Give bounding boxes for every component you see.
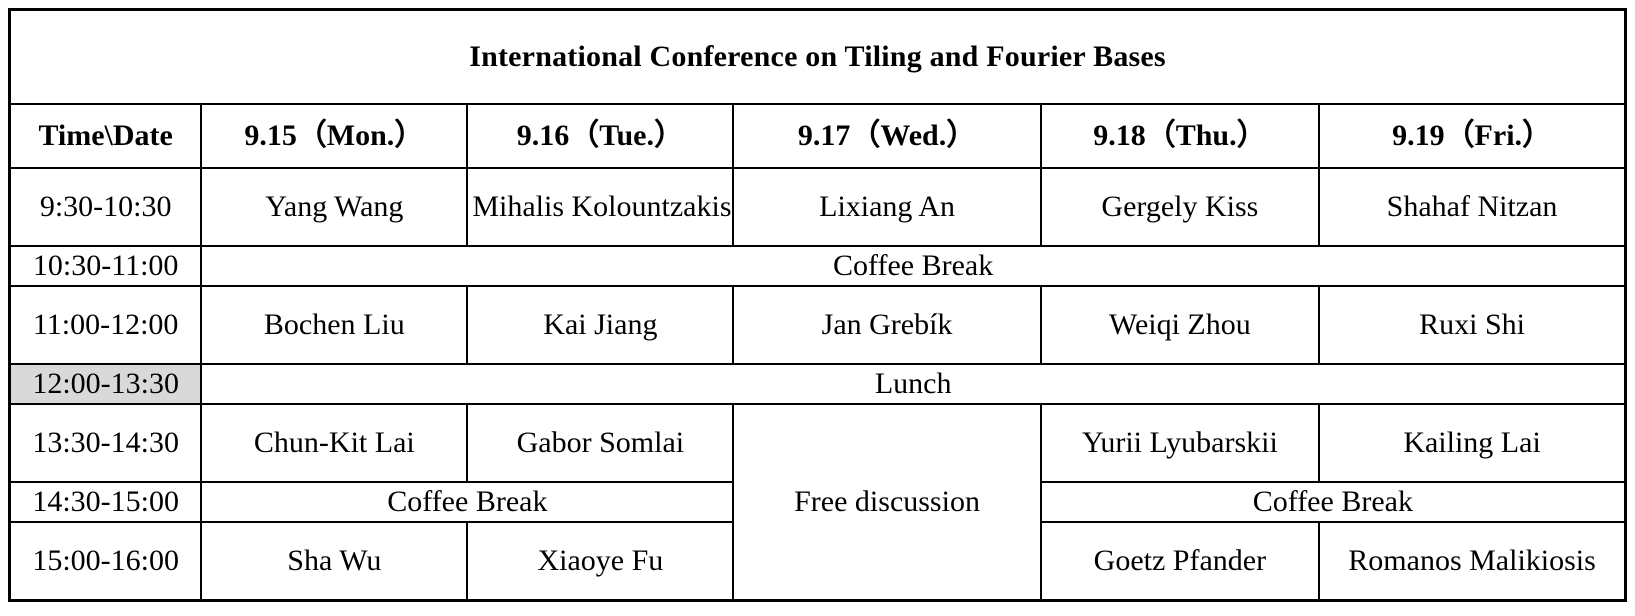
header-day-monday: 9.15（Mon.） — [201, 104, 467, 168]
time-slot-1100-1200: 11:00-12:00 — [10, 286, 202, 364]
talk-wed-1100: Jan Grebík — [733, 286, 1040, 364]
talk-fri-1500: Romanos Malikiosis — [1319, 522, 1625, 601]
talk-fri-0930: Shahaf Nitzan — [1319, 168, 1625, 246]
table-row: 12:00-13:30 Lunch — [10, 364, 1626, 404]
talk-mon-0930: Yang Wang — [201, 168, 467, 246]
time-slot-1200-1330: 12:00-13:30 — [10, 364, 202, 404]
free-discussion-wed: Free discussion — [733, 404, 1040, 601]
table-row: 9:30-10:30 Yang Wang Mihalis Kolountzaki… — [10, 168, 1626, 246]
time-slot-1030-1100: 10:30-11:00 — [10, 246, 202, 286]
schedule-page: International Conference on Tiling and F… — [0, 0, 1635, 616]
coffee-break-afternoon-left: Coffee Break — [201, 482, 733, 522]
talk-thu-0930: Gergely Kiss — [1041, 168, 1319, 246]
table-row: 13:30-14:30 Chun-Kit Lai Gabor Somlai Fr… — [10, 404, 1626, 482]
talk-thu-1100: Weiqi Zhou — [1041, 286, 1319, 364]
talk-tue-1500: Xiaoye Fu — [467, 522, 733, 601]
title-row: International Conference on Tiling and F… — [10, 10, 1626, 105]
header-day-wednesday: 9.17（Wed.） — [733, 104, 1040, 168]
header-day-tuesday: 9.16（Tue.） — [467, 104, 733, 168]
coffee-break-afternoon-right: Coffee Break — [1041, 482, 1626, 522]
page-title: International Conference on Tiling and F… — [10, 10, 1626, 105]
time-slot-1430-1500: 14:30-15:00 — [10, 482, 202, 522]
time-slot-1330-1430: 13:30-14:30 — [10, 404, 202, 482]
time-slot-1500-1600: 15:00-16:00 — [10, 522, 202, 601]
header-time-date: Time\Date — [10, 104, 202, 168]
talk-mon-1500: Sha Wu — [201, 522, 467, 601]
talk-thu-1330: Yurii Lyubarskii — [1041, 404, 1319, 482]
conference-schedule-table: International Conference on Tiling and F… — [8, 8, 1627, 602]
table-row: 11:00-12:00 Bochen Liu Kai Jiang Jan Gre… — [10, 286, 1626, 364]
talk-mon-1330: Chun-Kit Lai — [201, 404, 467, 482]
talk-tue-0930: Mihalis Kolountzakis — [467, 168, 733, 246]
talk-fri-1100: Ruxi Shi — [1319, 286, 1625, 364]
header-day-thursday: 9.18（Thu.） — [1041, 104, 1319, 168]
header-row: Time\Date 9.15（Mon.） 9.16（Tue.） 9.17（Wed… — [10, 104, 1626, 168]
talk-thu-1500: Goetz Pfander — [1041, 522, 1319, 601]
talk-mon-1100: Bochen Liu — [201, 286, 467, 364]
talk-wed-0930: Lixiang An — [733, 168, 1040, 246]
coffee-break-morning: Coffee Break — [201, 246, 1625, 286]
time-slot-0930-1030: 9:30-10:30 — [10, 168, 202, 246]
table-row: 10:30-11:00 Coffee Break — [10, 246, 1626, 286]
talk-fri-1330: Kailing Lai — [1319, 404, 1625, 482]
talk-tue-1330: Gabor Somlai — [467, 404, 733, 482]
header-day-friday: 9.19（Fri.） — [1319, 104, 1625, 168]
lunch-break: Lunch — [201, 364, 1625, 404]
talk-tue-1100: Kai Jiang — [467, 286, 733, 364]
